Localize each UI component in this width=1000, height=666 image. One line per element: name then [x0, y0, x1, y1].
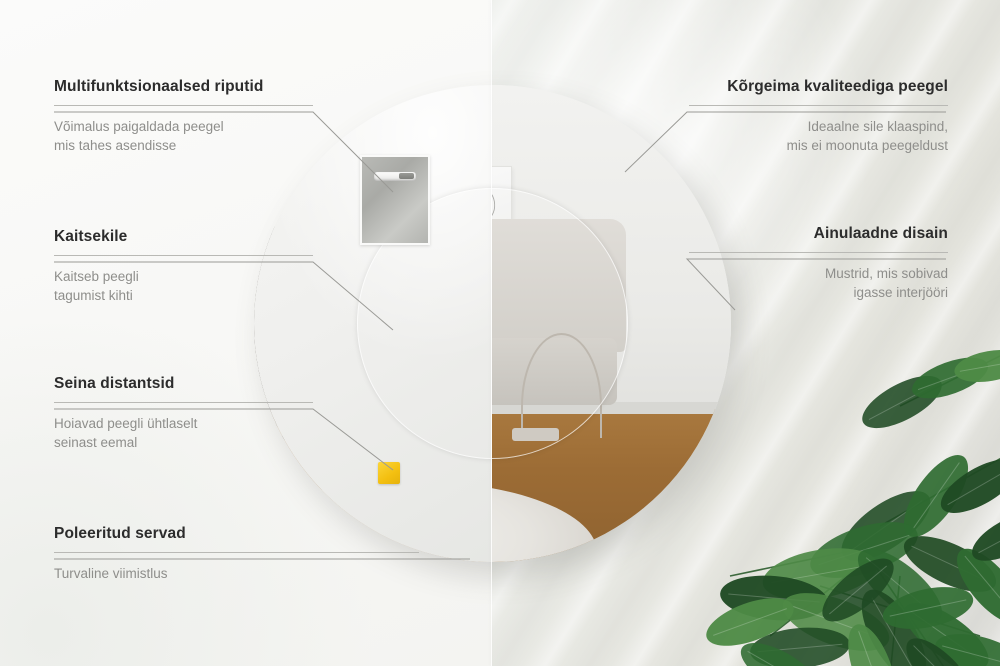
- callout-title: Ainulaadne disain: [689, 225, 948, 243]
- wall-spacer: [378, 462, 400, 484]
- decorative-plant: [650, 336, 1000, 666]
- callout-description: Ideaalne sile klaaspind, mis ei moonuta …: [689, 117, 948, 155]
- callout-title: Kõrgeima kvaliteediga peegel: [689, 78, 948, 96]
- callout-hangers: Multifunktsionaalsed riputid Võimalus pa…: [54, 78, 313, 155]
- callout-rule: [54, 255, 313, 256]
- callout-wall-spacers: Seina distantsid Hoiavad peegli ühtlasel…: [54, 375, 313, 452]
- callout-description: Hoiavad peegli ühtlaselt seinast eemal: [54, 414, 313, 452]
- callout-rule: [689, 105, 948, 106]
- callout-description: Kaitseb peegli tagumist kihti: [54, 267, 313, 305]
- callout-rule: [54, 552, 419, 553]
- callout-title: Multifunktsionaalsed riputid: [54, 78, 313, 96]
- callout-title: Kaitsekile: [54, 228, 313, 246]
- callout-polished-edges: Poleeritud servad Turvaline viimistlus: [54, 525, 419, 583]
- mirror-hanger-plate: [360, 155, 430, 245]
- callout-title: Seina distantsid: [54, 375, 313, 393]
- callout-description: Mustrid, mis sobivad igasse interjööri: [689, 264, 948, 302]
- callout-rule: [54, 105, 313, 106]
- callout-title: Poleeritud servad: [54, 525, 419, 543]
- panel-divider: [491, 0, 492, 666]
- infographic-canvas: Multifunktsionaalsed riputid Võimalus pa…: [0, 0, 1000, 666]
- callout-rule: [54, 402, 313, 403]
- callout-rule: [689, 252, 948, 253]
- callout-unique-design: Ainulaadne disain Mustrid, mis sobivad i…: [689, 225, 948, 302]
- callout-protective-film: Kaitsekile Kaitseb peegli tagumist kihti: [54, 228, 313, 305]
- callout-description: Võimalus paigaldada peegel mis tahes ase…: [54, 117, 313, 155]
- hanger-keyhole-slot: [374, 172, 416, 181]
- plant-leaves-illustration: [650, 336, 1000, 666]
- callout-quality-mirror: Kõrgeima kvaliteediga peegel Ideaalne si…: [689, 78, 948, 155]
- callout-description: Turvaline viimistlus: [54, 564, 419, 583]
